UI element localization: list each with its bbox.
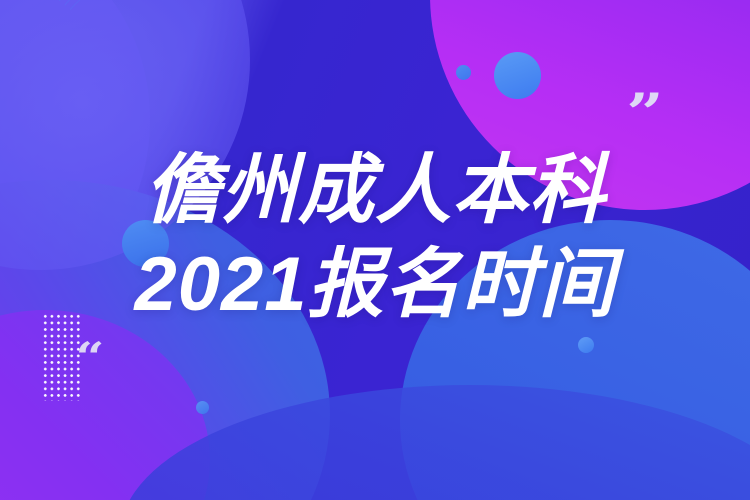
quote-mark-icon-right: ” xyxy=(626,88,663,140)
small-circle-bottom-center xyxy=(578,337,594,353)
small-circle-bottom-left xyxy=(196,401,209,414)
promotional-banner: ” ” 儋州成人本科 2021报名时间 xyxy=(0,0,750,500)
purple-blob-bottom-left-inner xyxy=(0,310,210,500)
small-circle-top-right xyxy=(456,65,471,80)
banner-headline: 儋州成人本科 2021报名时间 xyxy=(0,144,750,332)
headline-line-1: 儋州成人本科 xyxy=(0,144,750,238)
large-circle-top-right xyxy=(494,52,541,99)
indigo-sweep-bottom xyxy=(120,385,750,500)
headline-line-2: 2021报名时间 xyxy=(0,238,750,332)
